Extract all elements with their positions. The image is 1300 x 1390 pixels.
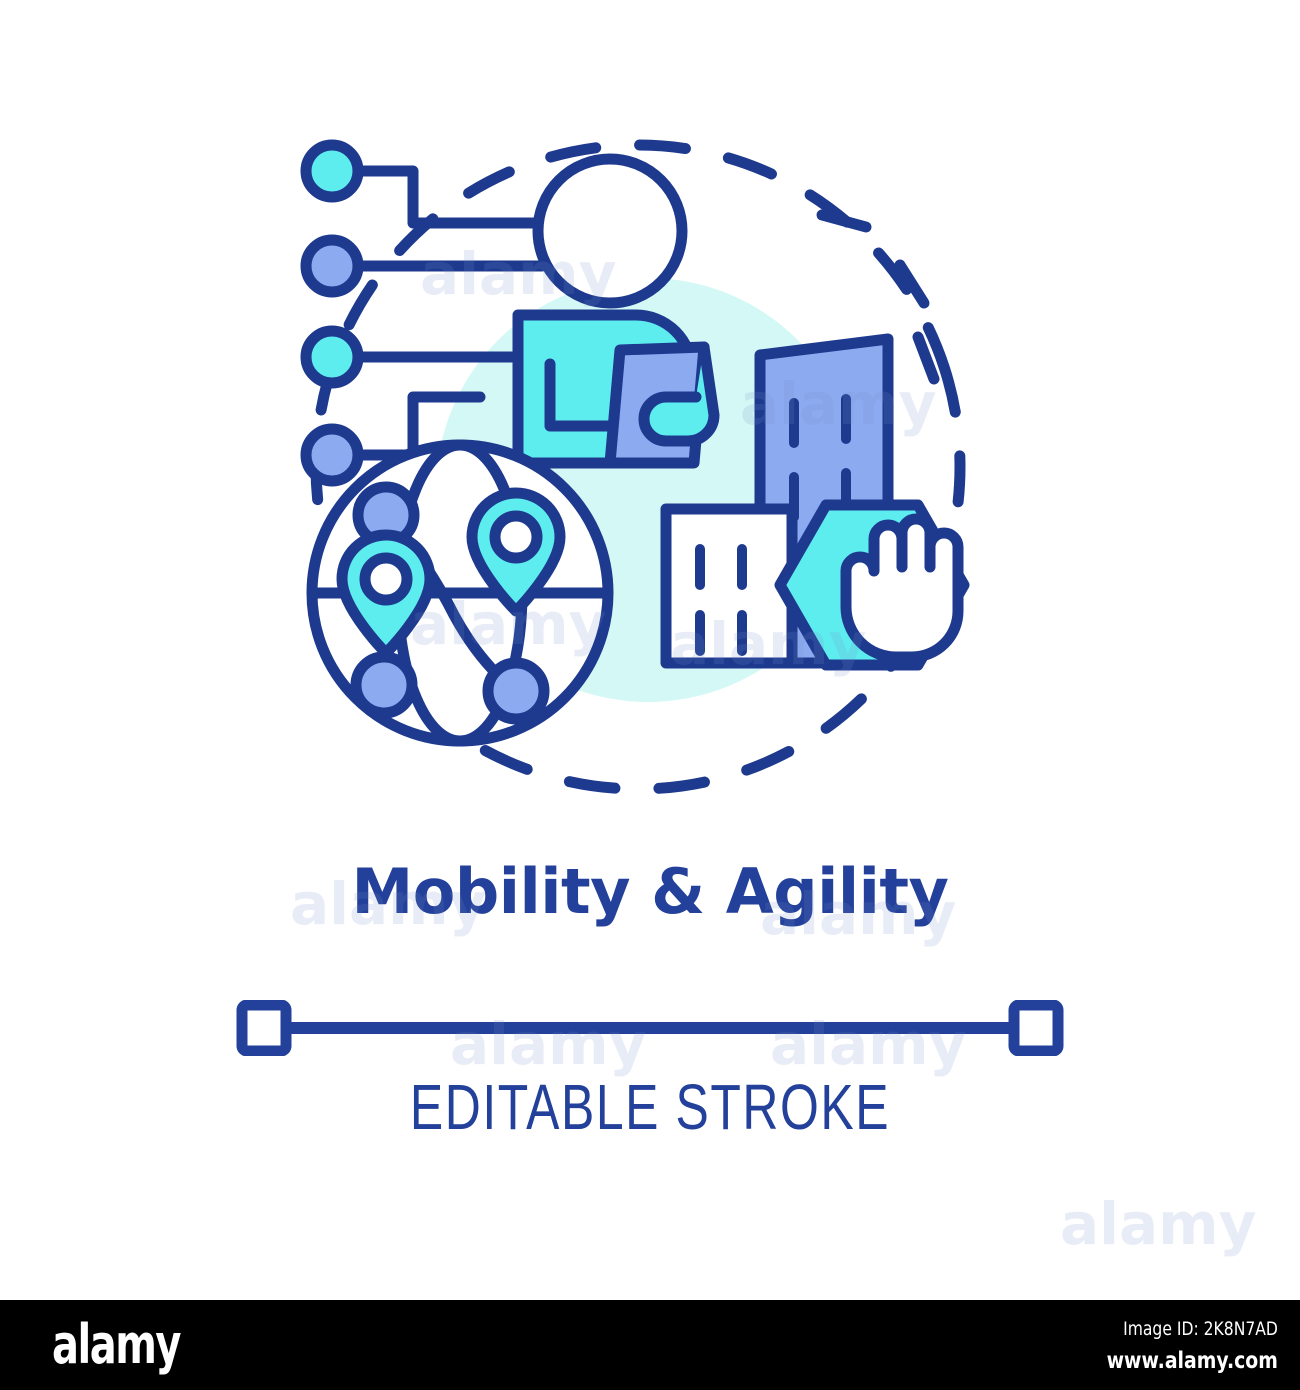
- stroke-handle-left: [242, 1005, 286, 1051]
- building-short: [666, 509, 792, 663]
- stroke-handle-right: [1014, 1005, 1058, 1051]
- watermark-text: alamy: [1060, 1190, 1256, 1258]
- person-head: [538, 159, 682, 303]
- footer-meta: Image ID: 2K8N7AD www.alamy.com: [1069, 1316, 1278, 1376]
- circuit-node-1: [306, 145, 358, 197]
- stroke-handle-bar: [235, 1000, 1065, 1056]
- connected-globe: [312, 445, 608, 741]
- editable-stroke-label: EDITABLE STROKE: [143, 1070, 1157, 1144]
- alamy-url[interactable]: www.alamy.com: [1107, 1346, 1278, 1376]
- hexagon-stop-sign: [780, 505, 964, 665]
- circuit-node-4: [306, 429, 358, 481]
- alamy-logo: alamy: [52, 1314, 180, 1376]
- stock-image-canvas: Mobility & Agility EDITABLE STROKE alamy…: [0, 0, 1300, 1300]
- editable-stroke-block: EDITABLE STROKE: [0, 1000, 1300, 1144]
- circuit-node-2: [306, 240, 358, 292]
- globe-node-4: [488, 663, 544, 719]
- alamy-footer-bar: alamy Image ID: 2K8N7AD www.alamy.com: [0, 1300, 1300, 1390]
- concept-illustration: [280, 115, 1000, 835]
- globe-node-3: [356, 657, 412, 713]
- circuit-node-3: [306, 331, 358, 383]
- image-id-label: Image ID: 2K8N7AD: [1107, 1316, 1278, 1342]
- concept-title: Mobility & Agility: [0, 855, 1300, 928]
